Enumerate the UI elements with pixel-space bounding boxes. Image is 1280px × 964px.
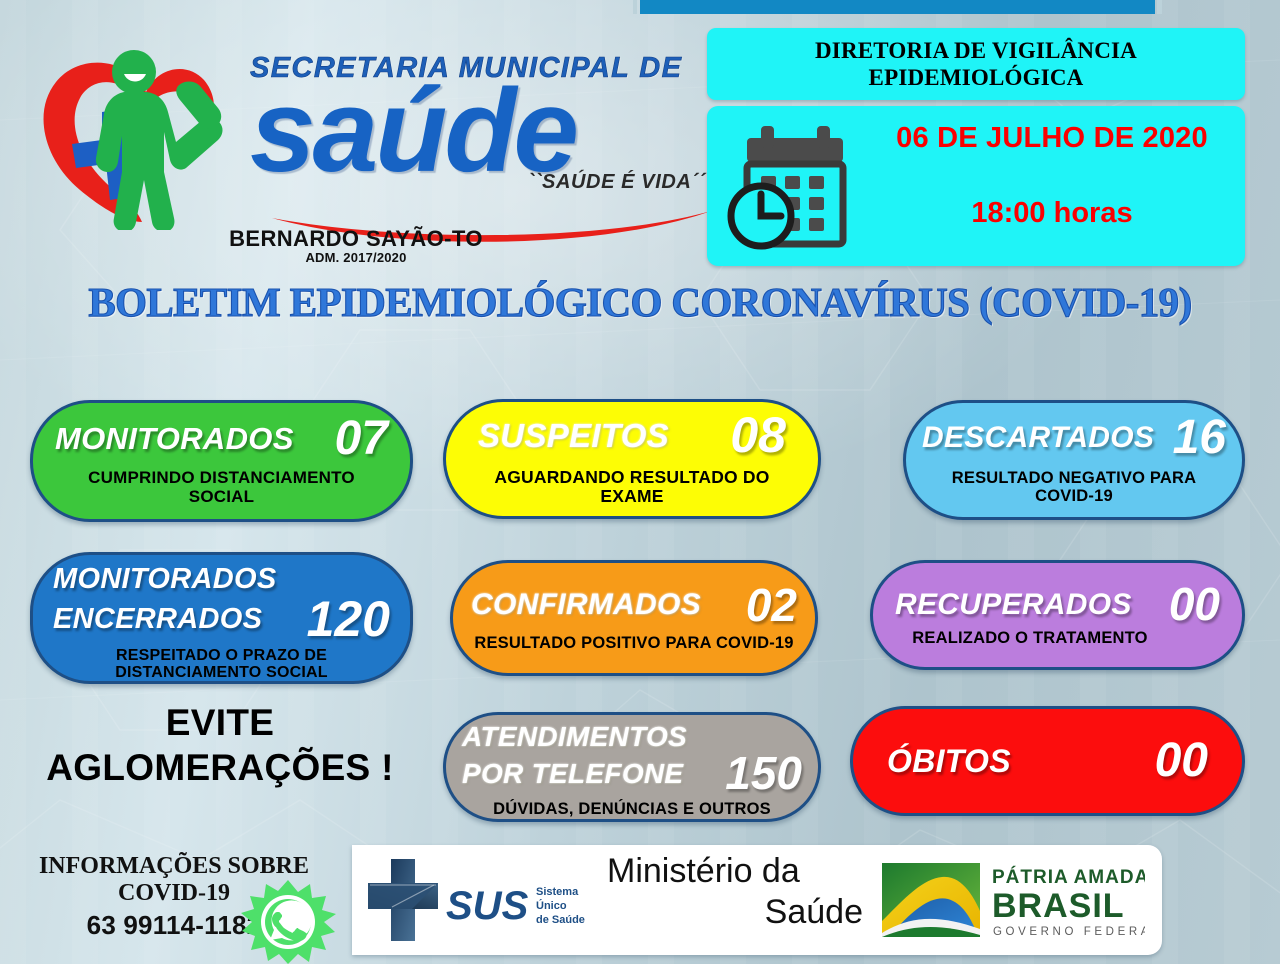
card-label-confirmados: CONFIRMADOS <box>471 590 701 620</box>
stat-card-descartados[interactable]: DESCARTADOS 16 RESULTADO NEGATIVO PARA C… <box>903 400 1245 520</box>
date-time-box: 06 DE JULHO DE 2020 18:00 horas <box>707 106 1245 266</box>
stat-card-confirmados[interactable]: CONFIRMADOS 02 RESULTADO POSITIVO PARA C… <box>450 560 818 676</box>
card-subtitle-descartados: RESULTADO NEGATIVO PARA COVID-19 <box>922 469 1226 505</box>
card-label-monitorados: MONITORADOS <box>55 423 294 454</box>
department-title-box: DIRETORIA DE VIGILÂNCIA EPIDEMIOLÓGICA <box>707 28 1245 100</box>
slide-top-accent-bar <box>640 0 1155 14</box>
card-value-obitos: 00 <box>1155 738 1208 784</box>
brasil-flag-swoosh-icon: PÁTRIA AMADA BRASIL GOVERNO FEDERAL <box>880 855 1145 947</box>
department-title-line2: EPIDEMIOLÓGICA <box>815 64 1137 91</box>
card-subtitle-encerrados-line1: RESPEITADO O PRAZO DE <box>53 647 390 665</box>
svg-text:BRASIL: BRASIL <box>992 887 1125 925</box>
department-title-text: DIRETORIA DE VIGILÂNCIA EPIDEMIOLÓGICA <box>815 37 1137 91</box>
svg-text:de Saúde: de Saúde <box>536 914 585 926</box>
slide-top-accent-gap-left <box>633 0 637 14</box>
secretaria-logo: SECRETARIA MUNICIPAL DE saúde ``SAÚDE É … <box>18 30 708 255</box>
card-label-encerrados-line1: MONITORADOS <box>53 565 390 594</box>
whatsapp-icon[interactable] <box>238 878 338 964</box>
ministry-line2: Saúde <box>607 892 867 933</box>
stat-card-obitos[interactable]: ÓBITOS 00 <box>850 706 1245 816</box>
contact-info-line1: INFORMAÇÕES SOBRE <box>14 853 334 880</box>
card-label-recuperados: RECUPERADOS <box>895 590 1132 620</box>
card-subtitle-confirmados: RESULTADO POSITIVO PARA COVID-19 <box>471 634 797 652</box>
warning-message: EVITE AGLOMERAÇÕES ! <box>20 700 420 790</box>
svg-text:GOVERNO FEDERAL: GOVERNO FEDERAL <box>993 926 1145 938</box>
warning-line2: AGLOMERAÇÕES ! <box>20 745 420 790</box>
logo-admin-period: ADM. 2017/2020 <box>196 250 516 265</box>
sus-cross-logo-icon: SUS Sistema Único de Saúde <box>364 857 594 943</box>
card-subtitle-recuperados: REALIZADO O TRATAMENTO <box>895 629 1220 647</box>
logo-city-name: BERNARDO SAYÃO-TO <box>196 226 516 252</box>
stat-card-monitorados-encerrados[interactable]: MONITORADOS ENCERRADOS 120 RESPEITADO O … <box>30 552 413 684</box>
svg-text:PÁTRIA AMADA: PÁTRIA AMADA <box>992 866 1145 888</box>
logo-saude-word: saúde <box>250 81 710 181</box>
card-value-atendimentos: 150 <box>725 752 802 796</box>
svg-text:Sistema: Sistema <box>536 886 579 898</box>
card-subtitle-atendimentos: DÚVIDAS, DENÚNCIAS E OUTROS <box>462 800 802 818</box>
bulletin-date: 06 DE JULHO DE 2020 <box>867 122 1237 155</box>
card-value-recuperados: 00 <box>1169 583 1220 627</box>
card-subtitle-encerrados-line2: DISTANCIAMENTO SOCIAL <box>53 664 390 682</box>
calendar-clock-icon <box>725 120 860 252</box>
logo-city-block: BERNARDO SAYÃO-TO ADM. 2017/2020 <box>196 226 516 265</box>
card-label-obitos: ÓBITOS <box>887 745 1011 777</box>
department-title-line1: DIRETORIA DE VIGILÂNCIA <box>815 37 1137 64</box>
slide-top-accent-gap-right <box>1157 0 1162 14</box>
stat-card-monitorados[interactable]: MONITORADOS 07 CUMPRINDO DISTANCIAMENTO … <box>30 400 413 522</box>
stat-card-recuperados[interactable]: RECUPERADOS 00 REALIZADO O TRATAMENTO <box>870 560 1245 670</box>
card-value-monitorados: 07 <box>335 416 388 462</box>
ministry-line1: Ministério da <box>607 851 867 892</box>
svg-text:Único: Único <box>536 899 567 912</box>
card-label-atendimentos-line2: POR TELEFONE <box>462 760 683 788</box>
bulletin-time: 18:00 horas <box>867 197 1237 230</box>
stat-card-atendimentos[interactable]: ATENDIMENTOS POR TELEFONE 150 DÚVIDAS, D… <box>443 712 821 822</box>
government-logos-banner: SUS Sistema Único de Saúde Ministério da… <box>352 845 1162 955</box>
svg-text:SUS: SUS <box>446 884 529 928</box>
logo-wordmark: SECRETARIA MUNICIPAL DE saúde ``SAÚDE É … <box>250 52 710 194</box>
card-value-suspeitos: 08 <box>730 412 786 460</box>
warning-line1: EVITE <box>20 700 420 745</box>
card-label-descartados: DESCARTADOS <box>922 423 1154 453</box>
date-time-text: 06 DE JULHO DE 2020 18:00 horas <box>867 122 1237 230</box>
card-value-confirmados: 02 <box>746 584 797 628</box>
stat-card-suspeitos[interactable]: SUSPEITOS 08 AGUARDANDO RESULTADO DO EXA… <box>443 399 821 519</box>
heart-person-cross-logo-icon <box>18 40 268 230</box>
card-value-descartados: 16 <box>1173 415 1226 461</box>
card-label-suspeitos: SUSPEITOS <box>478 419 669 452</box>
card-value-encerrados: 120 <box>307 596 390 644</box>
card-label-encerrados-line2: ENCERRADOS <box>53 605 262 634</box>
card-subtitle-monitorados: CUMPRINDO DISTANCIAMENTO SOCIAL <box>55 469 388 506</box>
card-subtitle-suspeitos: AGUARDANDO RESULTADO DO EXAME <box>468 468 796 507</box>
ministry-of-health-text: Ministério da Saúde <box>607 851 867 933</box>
page-title: BOLETIM EPIDEMIOLÓGICO CORONAVÍRUS (COVI… <box>0 278 1280 326</box>
